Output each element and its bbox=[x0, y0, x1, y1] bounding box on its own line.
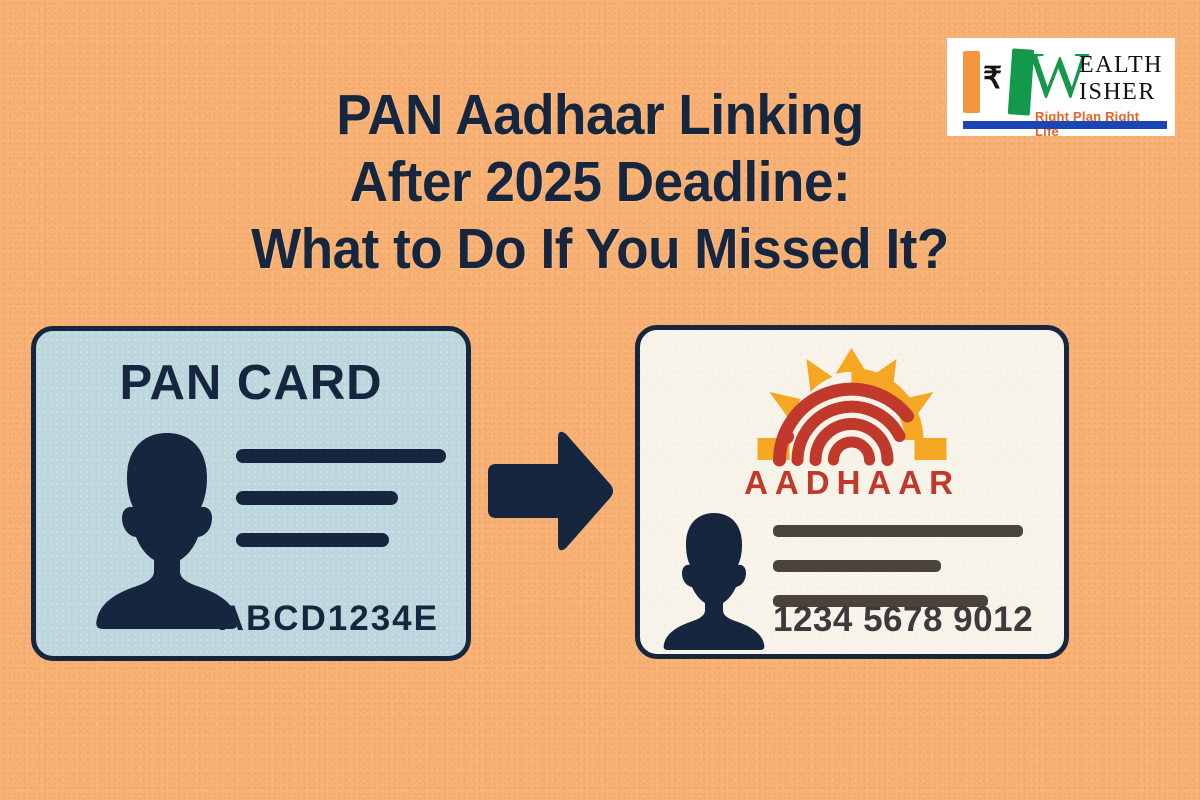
pan-detail-line-3 bbox=[236, 533, 389, 547]
pan-card-number: ABCD1234E bbox=[219, 599, 439, 639]
title-line-3: What to Do If You Missed It? bbox=[42, 216, 1158, 283]
pan-detail-line-2 bbox=[236, 491, 398, 505]
poster-canvas: PAN Aadhaar Linking After 2025 Deadline:… bbox=[0, 0, 1200, 800]
logo-content: ₹ W EALTH ISHER Right Plan Right Life bbox=[957, 47, 1167, 130]
pan-detail-line-1 bbox=[236, 449, 446, 463]
pan-card-title: PAN CARD bbox=[36, 357, 466, 409]
title-line-2: After 2025 Deadline: bbox=[42, 149, 1158, 216]
aadhaar-card: AADHAAR 1234 5678 9012 bbox=[635, 325, 1069, 659]
aadhaar-detail-line-1 bbox=[773, 525, 1023, 537]
wealth-wisher-logo[interactable]: ₹ W EALTH ISHER Right Plan Right Life bbox=[947, 38, 1175, 136]
logo-word-wealth: EALTH bbox=[1079, 53, 1163, 77]
pan-card-detail-lines bbox=[236, 449, 446, 547]
aadhaar-card-detail-lines bbox=[773, 525, 1023, 607]
rupee-icon: ₹ bbox=[983, 64, 1002, 94]
blue-bar-icon bbox=[963, 121, 1167, 129]
pan-card: PAN CARD ABCD1234E bbox=[31, 326, 471, 661]
aadhaar-wordmark: AADHAAR bbox=[744, 464, 960, 502]
arrow-right-icon bbox=[484, 428, 614, 554]
aadhaar-detail-line-2 bbox=[773, 560, 941, 572]
aadhaar-card-number: 1234 5678 9012 bbox=[773, 600, 1033, 640]
aadhaar-emblem-icon bbox=[750, 346, 955, 470]
logo-word-wisher: ISHER bbox=[1079, 80, 1156, 104]
saffron-bar-icon bbox=[963, 51, 980, 113]
person-avatar-icon bbox=[662, 510, 766, 650]
